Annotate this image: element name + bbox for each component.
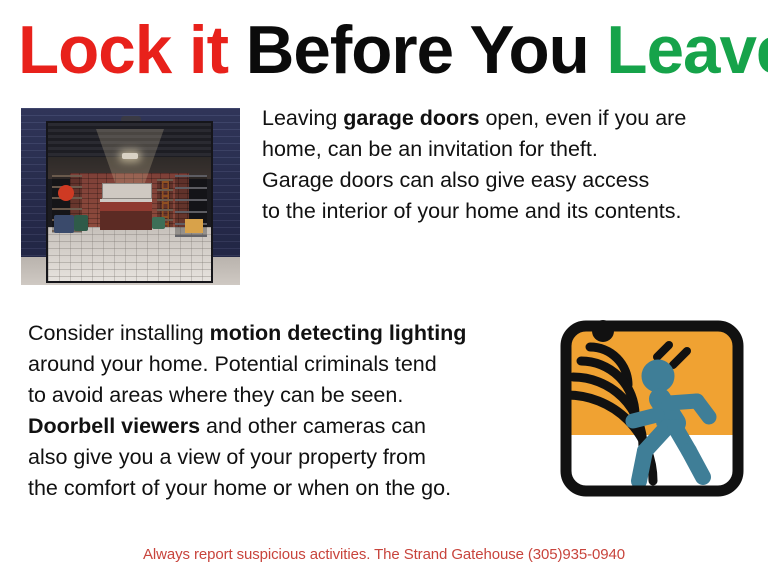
garage-stored-box	[185, 219, 203, 233]
page-title-part-before: Before You	[246, 12, 607, 88]
paragraph-top-emphasis-garage-doors: garage doors	[343, 106, 479, 130]
motion-sensor-icon	[557, 317, 747, 500]
paragraph-top-line1-suffix: open, even if you are	[480, 106, 687, 130]
garage-workbench	[100, 199, 152, 230]
paragraph-top-line3: Garage doors can also give easy access	[262, 168, 649, 192]
paragraph-bottom-emphasis-motion-lighting: motion detecting lighting	[210, 321, 467, 345]
garage-stored-items-left	[54, 215, 74, 233]
paragraph-bottom-line3: to avoid areas where they can be seen.	[28, 383, 403, 407]
page-title-part-leave: Leave it	[606, 12, 768, 88]
page-title-part-lock: Lock it	[18, 12, 246, 88]
paragraph-top-line2: home, can be an invitation for theft.	[262, 137, 598, 161]
footer-contact-note: Always report suspicious activities. The…	[0, 545, 768, 565]
lighting-advice-paragraph: Consider installing motion detecting lig…	[28, 318, 538, 504]
garage-red-item	[58, 185, 74, 201]
paragraph-bottom-line1-prefix: Consider installing	[28, 321, 210, 345]
paragraph-bottom-line2: around your home. Potential criminals te…	[28, 352, 437, 376]
garage-opening	[48, 123, 211, 281]
garage-advice-paragraph: Leaving garage doors open, even if you a…	[262, 103, 762, 227]
garage-bin-center	[152, 217, 165, 229]
paragraph-top-line4: to the interior of your home and its con…	[262, 199, 681, 223]
garage-ceiling-lamp	[122, 153, 138, 159]
paragraph-bottom-line5: also give you a view of your property fr…	[28, 445, 426, 469]
garage-bin-left	[74, 215, 88, 231]
paragraph-bottom-line6: the comfort of your home or when on the …	[28, 476, 451, 500]
page-title: Lock it Before You Leave it	[18, 14, 751, 86]
open-garage-photo	[21, 108, 240, 285]
paragraph-top-line1-prefix: Leaving	[262, 106, 343, 130]
paragraph-bottom-line4-suffix: and other cameras can	[200, 414, 426, 438]
paragraph-bottom-emphasis-doorbell-viewers: Doorbell viewers	[28, 414, 200, 438]
exterior-light-fixture	[121, 116, 141, 123]
garage-wall-cabinet	[102, 183, 152, 199]
